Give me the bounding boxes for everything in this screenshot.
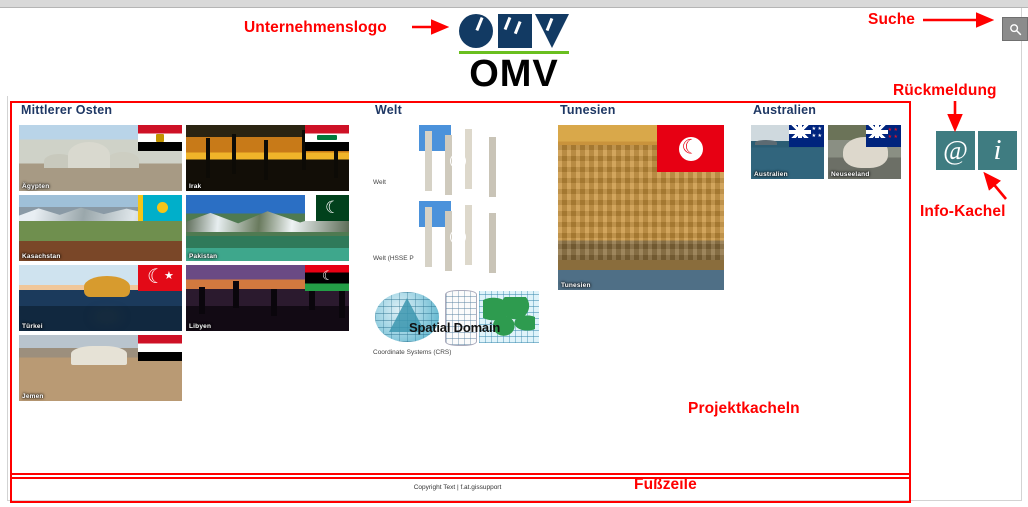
omv-wordmark: OMV xyxy=(457,54,571,94)
annotation-label-rueckmeldung: Rückmeldung xyxy=(893,82,997,100)
info-i-icon: i xyxy=(993,137,1001,164)
omv-logo-marks xyxy=(457,10,567,50)
at-sign-icon: @ xyxy=(943,137,968,164)
omv-circle-icon xyxy=(459,14,493,48)
annotation-label-info-kachel: Info-Kachel xyxy=(920,203,1006,221)
feedback-info-tiles: @ i xyxy=(936,131,1017,170)
omv-square-icon xyxy=(498,14,532,48)
search-button[interactable] xyxy=(1002,17,1028,41)
feedback-tile[interactable]: @ xyxy=(936,131,975,170)
omv-logo[interactable]: OMV xyxy=(457,10,572,94)
window-top-strip xyxy=(0,0,1028,8)
annotation-label-projektkacheln: Projektkacheln xyxy=(688,400,800,418)
annotation-label-fusszeile: Fußzeile xyxy=(634,476,697,494)
annotation-label-logo: Unternehmenslogo xyxy=(244,19,387,37)
annotation-label-suche: Suche xyxy=(868,11,915,29)
search-icon xyxy=(1009,23,1022,36)
omv-triangle-icon xyxy=(535,14,569,48)
info-tile[interactable]: i xyxy=(978,131,1017,170)
annotation-box-projektkacheln xyxy=(10,101,911,479)
annotation-box-fusszeile xyxy=(10,473,911,503)
